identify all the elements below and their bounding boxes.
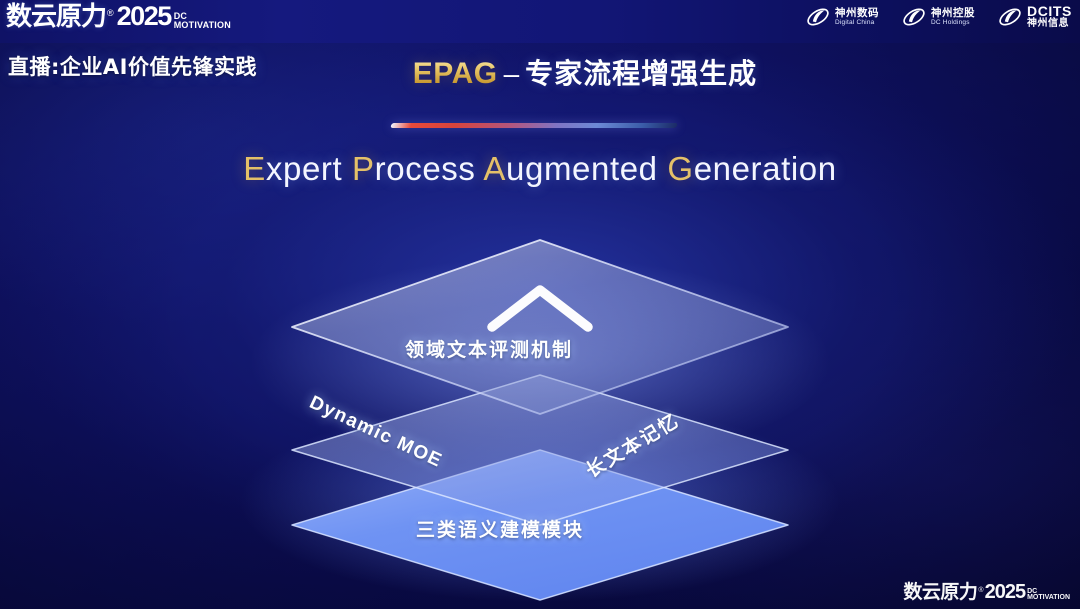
partner-logos: 神州数码 Digital China 神州控股 DC Holdings — [805, 4, 1072, 30]
subtitle-part-1: xpert — [266, 150, 352, 187]
logo-dc-holdings: 神州控股 DC Holdings — [901, 4, 975, 30]
watermark-name-cn: 数云原力 — [903, 583, 977, 602]
logo-text: DCITS 神州信息 — [1027, 4, 1072, 30]
header-bar: 数云原力 ® 2025 DC MOTIVATION 神州数码 Digital C… — [0, 0, 1080, 43]
brand-name-cn: 数云原力 — [6, 4, 106, 30]
brand-dc-motivation: DC MOTIVATION — [174, 12, 231, 29]
brand-dc-line2: MOTIVATION — [174, 21, 231, 29]
logo-text: 神州数码 Digital China — [835, 8, 879, 26]
registered-mark: ® — [107, 9, 114, 18]
logo-name-cn: 神州控股 — [931, 8, 975, 19]
watermark-dc-line2: MOTIVATION — [1027, 595, 1070, 602]
subtitle: Expert Process Augmented Generation — [0, 150, 1080, 188]
subtitle-part-6: G — [667, 150, 693, 187]
logo-text: 神州控股 DC Holdings — [931, 8, 975, 26]
watermark-dc-motivation: DC MOTIVATION — [1027, 589, 1070, 602]
layered-architecture-diagram: 领域文本评测机制 Dynamic MOE 长文本记忆 三类语义建模模块 — [280, 232, 800, 572]
title-dash: – — [504, 58, 520, 89]
brand-logo: 数云原力 ® 2025 DC MOTIVATION — [6, 3, 231, 30]
subtitle-part-0: E — [243, 150, 266, 187]
logo-digital-china: 神州数码 Digital China — [805, 4, 879, 30]
logo-name-en: Digital China — [835, 19, 879, 26]
logo-name-en: DC Holdings — [931, 19, 975, 26]
swirl-logo-icon — [805, 4, 831, 30]
subtitle-part-7: eneration — [694, 150, 837, 187]
title-chinese: 专家流程增强生成 — [525, 57, 757, 90]
footer-watermark: 数云原力 ® 2025 DC MOTIVATION — [903, 582, 1070, 602]
logo-name-en: 神州信息 — [1027, 19, 1072, 30]
logo-name-cn: DCITS — [1027, 4, 1072, 19]
brand-year: 2025 — [117, 3, 171, 30]
swirl-logo-icon — [997, 4, 1023, 30]
logo-name-cn: 神州数码 — [835, 8, 879, 19]
diagram-svg — [280, 232, 800, 572]
gradient-divider — [390, 123, 678, 128]
page-title: EPAG–专家流程增强生成 — [0, 52, 1080, 92]
subtitle-part-3: rocess — [375, 150, 484, 187]
subtitle-part-4: A — [483, 150, 506, 187]
logo-dcits: DCITS 神州信息 — [997, 4, 1072, 30]
slide-stage: 数云原力 ® 2025 DC MOTIVATION 神州数码 Digital C… — [0, 0, 1080, 609]
swirl-logo-icon — [901, 4, 927, 30]
subtitle-part-2: P — [352, 150, 375, 187]
subtitle-part-5: ugmented — [506, 150, 667, 187]
title-acronym: EPAG — [413, 57, 498, 90]
watermark-registered-mark: ® — [978, 587, 983, 594]
watermark-year: 2025 — [985, 582, 1026, 602]
